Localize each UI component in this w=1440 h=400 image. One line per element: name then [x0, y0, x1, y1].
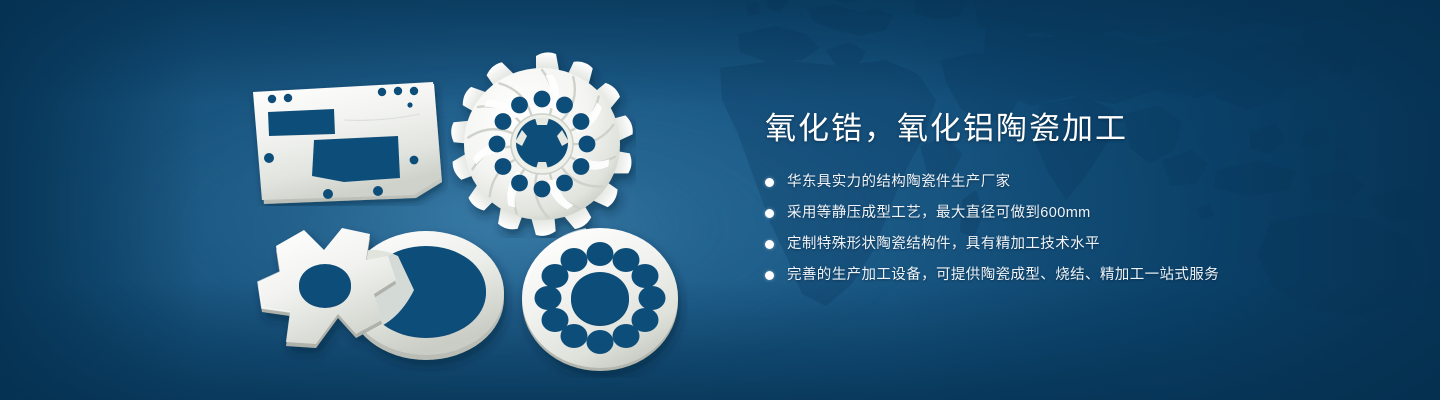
feature-text: 华东具实力的结构陶瓷件生产厂家: [787, 172, 1011, 192]
feature-text: 完善的生产加工设备，可提供陶瓷成型、烧结、精加工一站式服务: [787, 265, 1219, 285]
ceramic-plate-icon: [248, 78, 448, 206]
list-item: 采用等静压成型工艺，最大直径可做到600mm: [765, 203, 1385, 223]
bullet-dot-icon: [765, 178, 774, 187]
product-showcase: [0, 0, 760, 400]
ceramic-cross-icon: [246, 220, 518, 372]
bullet-dot-icon: [765, 209, 774, 218]
feature-list: 华东具实力的结构陶瓷件生产厂家 采用等静压成型工艺，最大直径可做到600mm 定…: [765, 172, 1385, 285]
list-item: 华东具实力的结构陶瓷件生产厂家: [765, 172, 1385, 192]
bullet-dot-icon: [765, 240, 774, 249]
feature-text: 采用等静压成型工艺，最大直径可做到600mm: [787, 203, 1091, 223]
list-item: 完善的生产加工设备，可提供陶瓷成型、烧结、精加工一站式服务: [765, 265, 1385, 285]
feature-text: 定制特殊形状陶瓷结构件，具有精加工技术水平: [787, 234, 1100, 254]
bullet-dot-icon: [765, 271, 774, 280]
page-title: 氧化锆，氧化铝陶瓷加工: [765, 108, 1385, 150]
ceramic-valve-plate-icon: [512, 222, 688, 378]
list-item: 定制特殊形状陶瓷结构件，具有精加工技术水平: [765, 234, 1385, 254]
banner-copy: 氧化锆，氧化铝陶瓷加工 华东具实力的结构陶瓷件生产厂家 采用等静压成型工艺，最大…: [765, 108, 1385, 285]
ceramic-impeller-icon: [448, 46, 636, 238]
ceramic-processing-banner: 氧化锆，氧化铝陶瓷加工 华东具实力的结构陶瓷件生产厂家 采用等静压成型工艺，最大…: [0, 0, 1440, 400]
